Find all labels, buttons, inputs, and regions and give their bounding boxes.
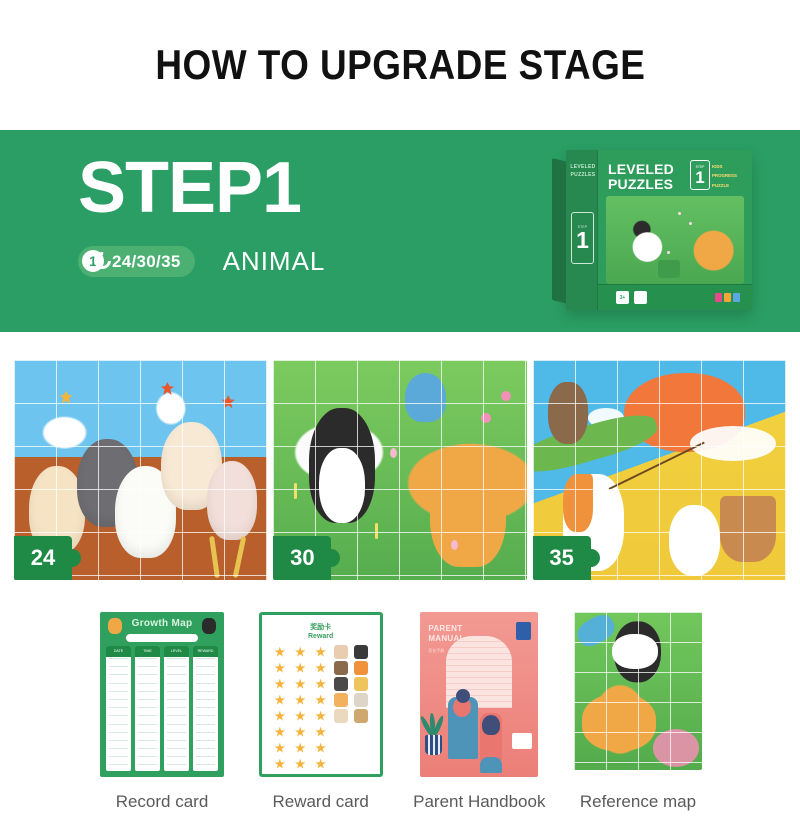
puzzle-art-brown-cat: [548, 382, 589, 444]
puzzle-art-cat: [430, 444, 506, 567]
husky-icon: [202, 618, 216, 634]
banner-text-group: STEP1 1 24/30/35 ANIMAL: [78, 152, 325, 277]
sticker-slot: [354, 725, 368, 739]
animal-sticker: [334, 677, 348, 691]
box-meta-line-3: PUZZLE: [712, 181, 746, 190]
accessory-caption: Parent Handbook: [403, 792, 555, 812]
piece-count-value: 30: [290, 545, 314, 571]
ref-art-husky-body: [612, 634, 658, 669]
box-face: LEVELED PUZZLES STEP 1 KIDS PROGRESS PUZ…: [598, 150, 752, 310]
box-spine-step-badge: STEP 1: [571, 212, 594, 264]
animal-sticker: [354, 709, 368, 723]
puzzle-art-leaf: [60, 391, 73, 404]
product-detail-page: HOW TO UPGRADE STAGE STEP1 1 24/30/35 AN…: [0, 0, 800, 834]
puzzle-art-grass: [375, 523, 378, 539]
animal-sticker: [354, 661, 368, 675]
level-circle-icon: 1: [82, 250, 106, 274]
step-title: STEP1: [78, 152, 325, 224]
accessories-row: Growth Map DATE TIME: [0, 612, 800, 834]
piece-count-value: 35: [549, 545, 573, 571]
growth-map-column: REWARD: [193, 646, 218, 771]
manual-title-line1: PARENT: [428, 624, 464, 634]
star-sticker: [295, 743, 306, 754]
star-sticker: [315, 743, 326, 754]
box-meta-line-1: KIDS: [712, 162, 746, 171]
box-color-dot: [715, 293, 722, 302]
pieces-count-text: 24/30/35: [112, 252, 181, 272]
sticker-slot: [354, 757, 368, 771]
box-art-sparkle: [689, 222, 692, 225]
sticker-slot: [354, 741, 368, 755]
box-art-sparkle: [667, 251, 670, 254]
page-title: HOW TO UPGRADE STAGE: [155, 41, 645, 89]
column-header: REWARD: [193, 646, 218, 657]
star-sticker: [295, 759, 306, 770]
sticker-slot: [334, 725, 348, 739]
box-footer-strip: 3+: [598, 284, 752, 310]
animal-sticker: [354, 677, 368, 691]
star-sticker: [295, 647, 306, 658]
box-meta-line-2: PROGRESS: [712, 171, 746, 180]
column-header: TIME: [135, 646, 160, 657]
star-sticker: [315, 679, 326, 690]
puzzle-art-bird: [405, 373, 446, 421]
page-header: HOW TO UPGRADE STAGE: [0, 0, 800, 130]
star-sticker: [274, 663, 285, 674]
reward-sticker-sheet: 奖励卡 Reward: [259, 612, 383, 777]
puzzle-art-leaf: [222, 395, 235, 408]
ref-art-cat: [582, 694, 656, 751]
record-card-image: Growth Map DATE TIME: [97, 612, 227, 784]
growth-map-column: TIME: [135, 646, 160, 771]
cover-girl-legs: [480, 757, 502, 773]
puzzle-art-white-kitten: [669, 505, 720, 575]
puzzle-row: 24 30: [0, 360, 800, 580]
star-sticker: [315, 663, 326, 674]
puzzle-card[interactable]: 30: [273, 360, 526, 580]
star-sticker: [295, 727, 306, 738]
star-sticker: [315, 695, 326, 706]
puzzle-art-blossom: [501, 391, 511, 401]
box-art-puzzle-notch: [658, 260, 680, 278]
puzzle-art-blossom: [481, 413, 491, 423]
box-spine: LEVELED PUZZLES STEP 1: [566, 150, 598, 310]
ref-art-blossoms: [653, 729, 699, 767]
cover-girl-hair: [482, 715, 500, 735]
accessory-item-reward-card[interactable]: 奖励卡 Reward: [245, 612, 397, 834]
puzzle-art-grass: [294, 483, 297, 499]
box-title-line2: PUZZLES: [608, 177, 674, 192]
product-box: LEVELED PUZZLES STEP 1 LEVELED PUZZLES S…: [552, 142, 772, 324]
accessory-caption: Reward card: [245, 792, 397, 812]
box-front: LEVELED PUZZLES STEP 1 LEVELED PUZZLES S…: [566, 150, 752, 310]
piece-count-badge: 35: [533, 536, 591, 580]
sticker-grid: [271, 645, 371, 766]
step-banner: STEP1 1 24/30/35 ANIMAL LEVELED PUZZLES: [0, 130, 800, 332]
brand-seal-icon: [516, 622, 531, 640]
manual-title: PARENT MANUAL: [428, 624, 464, 645]
box-meta-text: KIDS PROGRESS PUZZLE: [712, 162, 746, 190]
box-cover-art: [606, 196, 744, 284]
badge-row: 1 24/30/35 ANIMAL: [78, 246, 325, 277]
hamster-icon: [108, 618, 122, 634]
puzzle-art-husky-chest: [319, 448, 365, 523]
star-sticker: [295, 711, 306, 722]
box-step-number: 1: [695, 169, 704, 186]
column-header: DATE: [106, 646, 131, 657]
box-spine-step-number: 1: [576, 229, 589, 252]
accessory-caption: Reference map: [562, 792, 714, 812]
box-title-line1: LEVELED: [608, 162, 674, 177]
parent-handbook-image: PARENT MANUAL 家长手册: [414, 612, 544, 784]
star-sticker: [315, 727, 326, 738]
puzzle-card[interactable]: 35: [533, 360, 786, 580]
reward-title-cn: 奖励卡: [262, 623, 380, 632]
star-sticker: [295, 695, 306, 706]
plant-icon: [422, 711, 444, 755]
reward-title-en: Reward: [262, 632, 380, 641]
animal-sticker: [334, 693, 348, 707]
star-sticker: [274, 759, 285, 770]
piece-count-badge: 30: [273, 536, 331, 580]
piece-count-value: 24: [31, 545, 55, 571]
reference-map-card: [574, 612, 702, 770]
manual-subtitle: 家长手册: [428, 648, 444, 654]
star-sticker: [274, 711, 285, 722]
puzzle-card[interactable]: 24: [14, 360, 267, 580]
growth-map-name-field: [126, 634, 198, 642]
box-art-sparkle: [678, 212, 681, 215]
box-color-dot: [733, 293, 740, 302]
column-header: LEVEL: [164, 646, 189, 657]
pieces-badge: 1 24/30/35: [78, 246, 195, 277]
sticker-slot: [334, 757, 348, 771]
cover-easel-board: [512, 733, 532, 749]
box-step-badge: STEP 1: [690, 160, 710, 190]
accessory-item-record-card[interactable]: Growth Map DATE TIME: [86, 612, 238, 834]
box-front-title: LEVELED PUZZLES: [608, 162, 674, 193]
sticker-slot: [334, 741, 348, 755]
animal-sticker: [354, 693, 368, 707]
puzzle-art-petal: [390, 448, 397, 458]
star-sticker: [274, 727, 285, 738]
puzzle-art-basket: [720, 496, 776, 562]
growth-map-card: Growth Map DATE TIME: [100, 612, 224, 777]
star-sticker: [315, 647, 326, 658]
star-sticker: [295, 663, 306, 674]
star-sticker: [315, 711, 326, 722]
reward-card-title: 奖励卡 Reward: [262, 623, 380, 642]
animal-sticker: [354, 645, 368, 659]
animal-sticker: [334, 645, 348, 659]
animal-sticker: [334, 709, 348, 723]
puzzle-art-petal: [451, 540, 458, 550]
reference-map-image: [573, 612, 703, 784]
growth-map-columns: DATE TIME: [106, 646, 218, 771]
accessory-caption: Record card: [86, 792, 238, 812]
puzzle-art-leaf: [161, 382, 174, 395]
growth-map-column: LEVEL: [164, 646, 189, 771]
star-sticker: [315, 759, 326, 770]
animal-sticker: [334, 661, 348, 675]
puzzle-art-hamster: [207, 461, 258, 540]
star-sticker: [274, 647, 285, 658]
star-sticker: [274, 695, 285, 706]
puzzle-art-frond: [209, 536, 220, 578]
box-age-chip: 3+: [616, 291, 629, 304]
star-sticker: [295, 679, 306, 690]
star-sticker: [274, 679, 285, 690]
accessory-item-parent-handbook[interactable]: PARENT MANUAL 家长手册: [403, 612, 555, 834]
parent-manual-cover: PARENT MANUAL 家长手册: [420, 612, 538, 777]
puzzle-art-frond: [233, 536, 247, 578]
piece-count-badge: 24: [14, 536, 72, 580]
theme-label: ANIMAL: [223, 246, 326, 277]
star-sticker: [274, 743, 285, 754]
reward-card-image: 奖励卡 Reward: [256, 612, 386, 784]
box-cert-chip: [634, 291, 647, 304]
box-spine-title: LEVELED PUZZLES: [570, 164, 596, 179]
growth-map-column: DATE: [106, 646, 131, 771]
accessory-item-reference-map[interactable]: Reference map: [562, 612, 714, 834]
manual-title-line2: MANUAL: [428, 634, 464, 644]
box-color-dot: [724, 293, 731, 302]
puzzle-art-calico-patch: [563, 474, 593, 531]
